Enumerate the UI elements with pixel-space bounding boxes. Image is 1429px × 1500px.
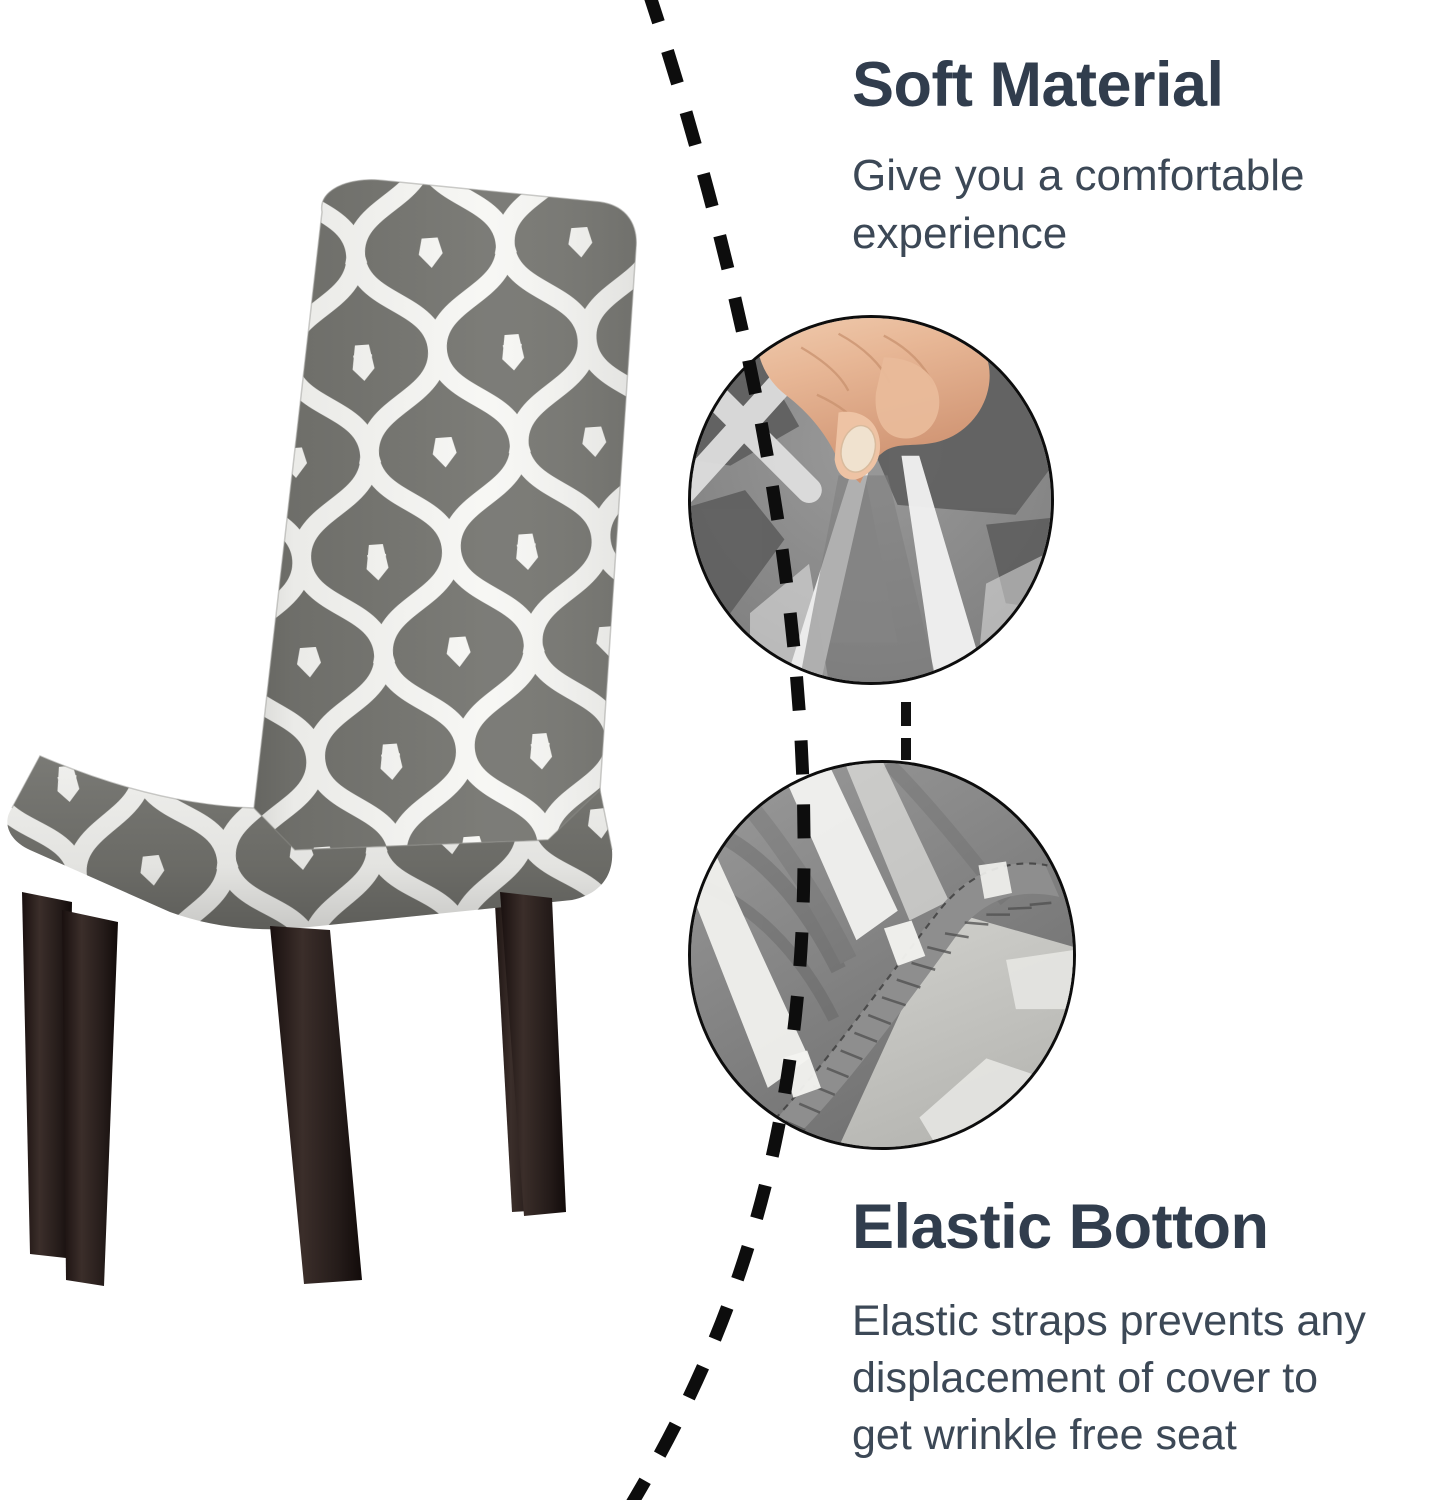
elastic-bottom-description-line-1: Elastic straps prevents any (852, 1293, 1422, 1350)
elastic-bottom-description-line-2: displacement of cover to (852, 1350, 1422, 1407)
infographic-canvas: Soft Material Give you a comfortable exp… (0, 0, 1429, 1500)
feature-text-elastic-bottom: Elastic Botton Elastic straps prevents a… (852, 1192, 1422, 1464)
soft-material-description-line-2: experience (852, 205, 1412, 264)
stretch-fabric-closeup-image (691, 318, 1051, 682)
chair-illustration (0, 150, 700, 1330)
elastic-bottom-description-line-3: get wrinkle free seat (852, 1407, 1422, 1464)
soft-material-description-line-1: Give you a comfortable (852, 147, 1412, 206)
callout-circle-soft-material (688, 315, 1054, 685)
feature-text-soft-material: Soft Material Give you a comfortable exp… (852, 50, 1412, 264)
soft-material-description: Give you a comfortable experience (852, 147, 1412, 264)
callout-circle-elastic-bottom (688, 760, 1076, 1150)
chair-front-legs (62, 892, 566, 1286)
elastic-bottom-title: Elastic Botton (852, 1192, 1422, 1263)
soft-material-title: Soft Material (852, 50, 1412, 121)
elastic-bottom-description: Elastic straps prevents any displacement… (852, 1293, 1422, 1465)
chair-product-photo (0, 150, 700, 1330)
elastic-hem-closeup-image (691, 763, 1073, 1147)
